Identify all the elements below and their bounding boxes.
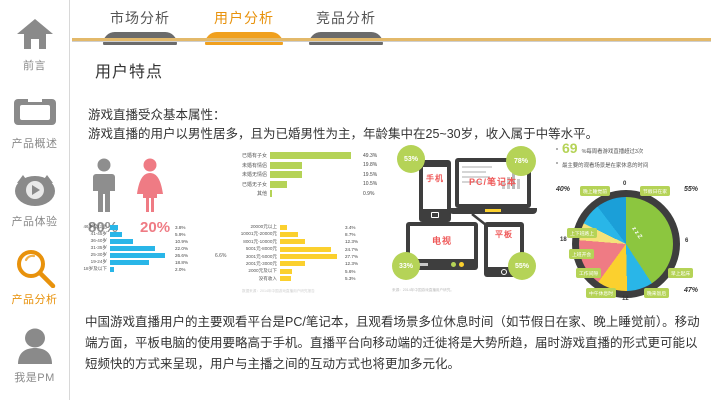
- bar-value-label: 5.9%: [172, 232, 185, 237]
- tv-label: 电视: [422, 234, 462, 247]
- chart-marital-status: 已婚有子女49.3%未婚有情侣19.8%未婚无情侣19.5%已婚无子女10.5%…: [238, 152, 377, 200]
- lead-line-1: 游戏直播受众基本属性：: [88, 106, 688, 125]
- play-mask-icon: [13, 170, 57, 210]
- phone-label: 手机: [423, 174, 447, 183]
- pie-tag-commute: 上下班路上: [567, 228, 597, 238]
- bar-category-label: 没有收入: [232, 276, 280, 282]
- page-title: 用户特点: [95, 58, 163, 82]
- bar-fill: [280, 261, 305, 266]
- tab-underline-thin: [72, 41, 711, 42]
- tab-label: 用户分析: [214, 8, 274, 28]
- bar-value-label: 10.5%: [360, 181, 377, 187]
- bar-category-label: 41-45岁: [80, 231, 110, 237]
- tv-usage-badge: 33%: [392, 252, 420, 280]
- bar-value-label: 12.3%: [342, 239, 358, 244]
- bar-track: [280, 247, 342, 252]
- bar-row: 没有收入5.3%: [232, 276, 358, 282]
- sidebar-item-i-am-pm[interactable]: 我是PM: [0, 316, 70, 394]
- pie-pct-before-sleep: 40%: [556, 186, 570, 193]
- bar-category-label: 未婚无情侣: [238, 171, 270, 178]
- tablet-label: 平板: [492, 230, 516, 239]
- bar-value-label: 8.7%: [342, 232, 355, 237]
- bar-fill: [110, 232, 122, 237]
- bar-fill: [270, 162, 302, 169]
- bar-category-label: 36-40岁: [80, 238, 110, 244]
- stat-second-line: 最主要的观看场景是在家休息的时间: [562, 161, 648, 169]
- bar-row: 其他0.9%: [238, 190, 377, 197]
- bar-category-label: 已婚有子女: [238, 152, 270, 159]
- pie-tag-morning-wakeup: 早上起床: [668, 268, 693, 278]
- bar-row: 已婚无子女10.5%: [238, 181, 377, 188]
- bar-fill: [280, 247, 331, 252]
- male-figure-icon: [88, 158, 120, 217]
- pie-tag-holiday-home: 节假日在家: [640, 186, 670, 196]
- tab-market-analysis[interactable]: 市场分析: [92, 8, 188, 36]
- tablet-usage-badge: 55%: [508, 252, 536, 280]
- bar-row: 36-40岁10.9%: [80, 238, 188, 244]
- bar-row: 19-24岁18.8%: [80, 259, 188, 265]
- bar-track: [270, 162, 360, 169]
- bar-value-label: 18.8%: [172, 260, 188, 265]
- pie-tag-after-dinner: 晚来饭后: [644, 288, 669, 298]
- bar-fill: [110, 225, 118, 230]
- bar-track: [280, 225, 342, 230]
- bar-value-label: 10.9%: [172, 239, 188, 244]
- bar-row: 未婚无情侣19.5%: [238, 171, 377, 178]
- bar-category-label: 其他: [238, 190, 270, 197]
- bar-row: 25-30岁26.6%: [80, 252, 188, 258]
- bar-value-label: 3.8%: [172, 225, 185, 230]
- bar-fill: [110, 246, 155, 251]
- bar-category-label: 8001元-10000元: [232, 239, 280, 245]
- frame-icon: [13, 92, 57, 132]
- sidebar-label: 产品分析: [12, 291, 58, 307]
- bar-category-label: 19-24岁: [80, 259, 110, 265]
- chart-viewing-scene-pie: 0 6 12 18 z z Z: [572, 190, 680, 298]
- laptop-usage-badge: 78%: [506, 146, 536, 176]
- bar-track: [270, 152, 360, 159]
- home-icon: [13, 14, 57, 54]
- bar-value-label: 12.3%: [342, 261, 358, 266]
- bar-fill: [110, 239, 133, 244]
- bar-fill: [270, 171, 302, 178]
- sidebar-item-product-experience[interactable]: 产品体验: [0, 160, 70, 238]
- bar-row: 46岁及以上3.8%: [80, 224, 188, 230]
- bar-row: 8001元-10000元12.3%: [232, 239, 358, 245]
- bar-track: [280, 254, 342, 259]
- laptop-usage-pct: 78%: [514, 158, 528, 165]
- magnifier-icon: [13, 248, 57, 288]
- bar-fill: [280, 232, 298, 237]
- phone-usage-pct: 53%: [404, 156, 418, 163]
- bar-category-label: 2001元-3000元: [232, 261, 280, 267]
- chart-income-distribution: 20000元以上3.4%10001元-20000元8.7%8001元-10000…: [232, 224, 358, 283]
- bar-track: [110, 225, 172, 230]
- bar-value-label: 5.3%: [342, 276, 355, 281]
- bar-fill: [280, 276, 291, 281]
- bar-row: 18岁及以下2.0%: [80, 266, 188, 272]
- bar-value-label: 19.8%: [360, 162, 377, 168]
- bar-fill: [110, 260, 149, 265]
- bar-track: [110, 232, 172, 237]
- pie-tag-before-sleep: 晚上睡觉前: [580, 186, 610, 196]
- bar-fill: [110, 267, 114, 272]
- pie-tag-noon-break: 中午休息时: [586, 288, 616, 298]
- bar-row: 未婚有情侣19.8%: [238, 162, 377, 169]
- bar-track: [110, 267, 172, 272]
- bar-fill: [280, 239, 305, 244]
- tab-label: 市场分析: [110, 8, 170, 28]
- tab-user-analysis[interactable]: 用户分析: [196, 8, 292, 36]
- chart-source-note: 数据来源：2014年中国游戏直播用户研究报告: [242, 289, 315, 294]
- bar-track: [270, 171, 360, 178]
- bar-category-label: 31-35岁: [80, 245, 110, 251]
- phone-usage-badge: 53%: [397, 145, 425, 173]
- bar-row: 3001元-5000元27.7%: [232, 254, 358, 260]
- device-source-note: 来源：2014年中国游戏直播用户研究。: [392, 288, 454, 293]
- bar-value-label: 2.0%: [172, 267, 185, 272]
- bar-track: [110, 239, 172, 244]
- bar-value-label: 3.4%: [342, 225, 355, 230]
- bar-category-label: 18岁及以下: [80, 266, 110, 272]
- clock-tick-0: 0: [623, 181, 626, 187]
- tab-bar: 市场分析 用户分析 竞品分析: [70, 0, 711, 42]
- clock-tick-12: 12: [622, 296, 629, 302]
- bar-fill: [270, 181, 287, 188]
- clock-tick-18: 18: [560, 237, 567, 243]
- bar-track: [280, 232, 342, 237]
- bar-value-label: 19.5%: [360, 172, 377, 178]
- bar-value-label: 49.3%: [360, 153, 377, 159]
- sidebar-label: 我是PM: [14, 369, 55, 385]
- bar-row: 5001元-8000元24.7%: [232, 246, 358, 252]
- stat-line-1: 69 %每周看游戏直播超过3次: [556, 140, 711, 156]
- bar-row: 10001元-20000元8.7%: [232, 231, 358, 237]
- device-usage-infographic: 手机 53% PC/笔记本 78% 电视 33% 平板 55%: [392, 142, 552, 290]
- bar-row: 31-35岁22.0%: [80, 245, 188, 251]
- pie-tag-work-gap: 工作间隙: [576, 268, 601, 278]
- sidebar-label: 产品概述: [12, 135, 58, 151]
- bar-value-label: 22.0%: [172, 246, 188, 251]
- bar-track: [270, 190, 360, 197]
- bar-track: [110, 253, 172, 258]
- chart-age-distribution: 46岁及以上3.8%41-45岁5.9%36-40岁10.9%31-35岁22.…: [80, 224, 188, 273]
- bar-category-label: 10001元-20000元: [232, 231, 280, 237]
- gender-icons-row: [84, 158, 196, 217]
- bar-category-label: 46岁及以上: [80, 224, 110, 230]
- bar-track: [280, 261, 342, 266]
- tablet-usage-pct: 55%: [515, 263, 529, 270]
- bar-row: 20000元以上3.4%: [232, 224, 358, 230]
- bar-fill: [280, 254, 337, 259]
- lead-paragraph: 游戏直播受众基本属性： 游戏直播的用户以男性居多，且为已婚男性为主，年龄集中在2…: [88, 106, 688, 144]
- bar-fill: [270, 152, 351, 159]
- pie-tag-office-meeting: 上班开会: [569, 249, 594, 259]
- income-highlight-value: 6.6%: [215, 253, 226, 259]
- bar-track: [280, 269, 342, 274]
- pie-pct-after-dinner: 47%: [684, 287, 698, 294]
- bar-row: 2001元-3000元12.3%: [232, 261, 358, 267]
- bullet-dot-icon: [556, 162, 558, 164]
- bar-value-label: 26.6%: [172, 253, 188, 258]
- bar-track: [110, 260, 172, 265]
- bar-value-label: 5.6%: [342, 269, 355, 274]
- bar-row: 41-45岁5.9%: [80, 231, 188, 237]
- bar-row: 2000元及以下5.6%: [232, 268, 358, 274]
- sidebar-label: 前言: [23, 57, 46, 73]
- bar-fill: [280, 225, 287, 230]
- device-connectors: [432, 212, 492, 226]
- bar-category-label: 未婚有情侣: [238, 162, 270, 169]
- pie-pct-holiday-home: 55%: [684, 186, 698, 193]
- bar-row: 已婚有子女49.3%: [238, 152, 377, 159]
- stat-line-2: 最主要的观看场景是在家休息的时间: [556, 161, 711, 169]
- bar-category-label: 3001元-5000元: [232, 254, 280, 260]
- bar-fill: [270, 190, 272, 197]
- bar-track: [110, 246, 172, 251]
- tab-label: 竞品分析: [316, 8, 376, 28]
- bar-category-label: 5001元-8000元: [232, 246, 280, 252]
- sidebar-item-product-overview[interactable]: 产品概述: [0, 82, 70, 160]
- bar-track: [270, 181, 360, 188]
- clock-tick-6: 6: [685, 238, 688, 244]
- viewing-habits-panel: 69 %每周看游戏直播超过3次 最主要的观看场景是在家休息的时间 0 6 12 …: [556, 140, 711, 300]
- female-figure-icon: [134, 158, 166, 217]
- sidebar: 前言 产品概述 产品体验: [0, 0, 70, 400]
- tab-competitor-analysis[interactable]: 竞品分析: [298, 8, 394, 36]
- bar-fill: [280, 269, 292, 274]
- bar-category-label: 25-30岁: [80, 252, 110, 258]
- bar-value-label: 24.7%: [342, 247, 358, 252]
- stat-big-suffix: %每周看游戏直播超过3次: [582, 147, 644, 155]
- bar-value-label: 27.7%: [342, 254, 358, 259]
- person-icon: [13, 326, 57, 366]
- bar-track: [280, 239, 342, 244]
- bar-category-label: 2000元及以下: [232, 268, 280, 274]
- summary-paragraph: 中国游戏直播用户的主要观看平台是PC/笔记本，且观看场景多位休息时间（如节假日在…: [85, 312, 700, 375]
- tv-usage-pct: 33%: [399, 263, 413, 270]
- bullet-dot-icon: [556, 148, 558, 150]
- bar-category-label: 已婚无子女: [238, 181, 270, 188]
- laptop-label: PC/笔记本: [460, 175, 526, 188]
- sidebar-label: 产品体验: [12, 213, 58, 229]
- bar-track: [280, 276, 342, 281]
- sidebar-item-product-analysis[interactable]: 产品分析: [0, 238, 70, 316]
- bar-category-label: 20000元以上: [232, 224, 280, 230]
- bar-value-label: 0.9%: [360, 191, 374, 197]
- bar-fill: [110, 253, 165, 258]
- sidebar-item-preface[interactable]: 前言: [0, 4, 70, 82]
- stat-big-number: 69: [562, 140, 578, 156]
